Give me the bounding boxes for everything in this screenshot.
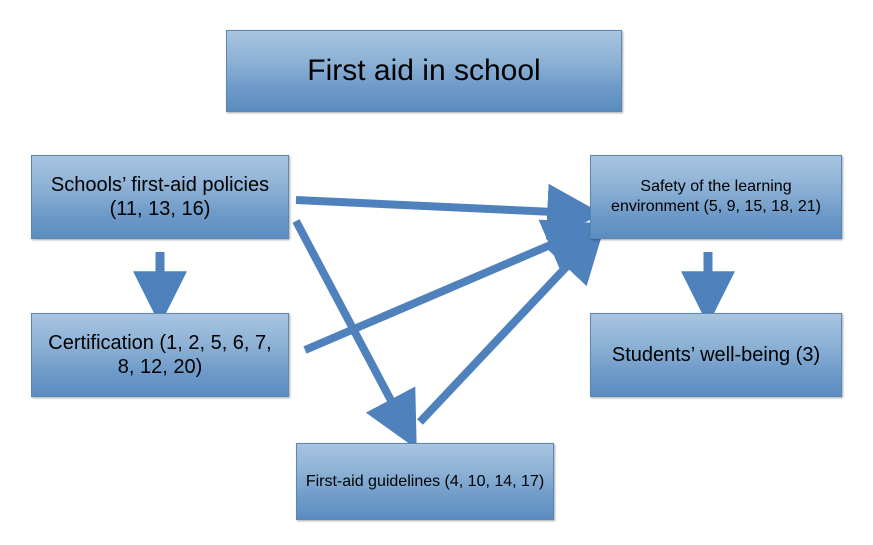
node-students-wellbeing: Students’ well-being (3) (590, 313, 842, 397)
arrow-policies-to-guidelines (296, 221, 404, 425)
node-safety-of-learning-environment: Safety of the learning environment (5, 9… (590, 155, 842, 239)
node-certification-label: Certification (1, 2, 5, 6, 7, 8, 12, 20) (38, 331, 282, 380)
node-policies-label: Schools’ first-aid policies (11, 13, 16) (38, 173, 282, 222)
node-guidelines-label: First-aid guidelines (4, 10, 14, 17) (303, 472, 547, 492)
node-safety-label: Safety of the learning environment (5, 9… (597, 177, 835, 216)
node-title-label: First aid in school (233, 53, 615, 90)
node-schools-first-aid-policies: Schools’ first-aid policies (11, 13, 16) (31, 155, 289, 239)
node-title: First aid in school (226, 30, 622, 112)
arrow-policies-to-safety (296, 200, 576, 213)
arrow-guidelines-to-safety (420, 246, 586, 422)
node-first-aid-guidelines: First-aid guidelines (4, 10, 14, 17) (296, 443, 554, 520)
diagram-canvas: First aid in school Schools’ first-aid p… (0, 0, 873, 545)
node-wellbeing-label: Students’ well-being (3) (597, 343, 835, 367)
arrow-certification-to-safety (305, 234, 576, 350)
node-certification: Certification (1, 2, 5, 6, 7, 8, 12, 20) (31, 313, 289, 397)
